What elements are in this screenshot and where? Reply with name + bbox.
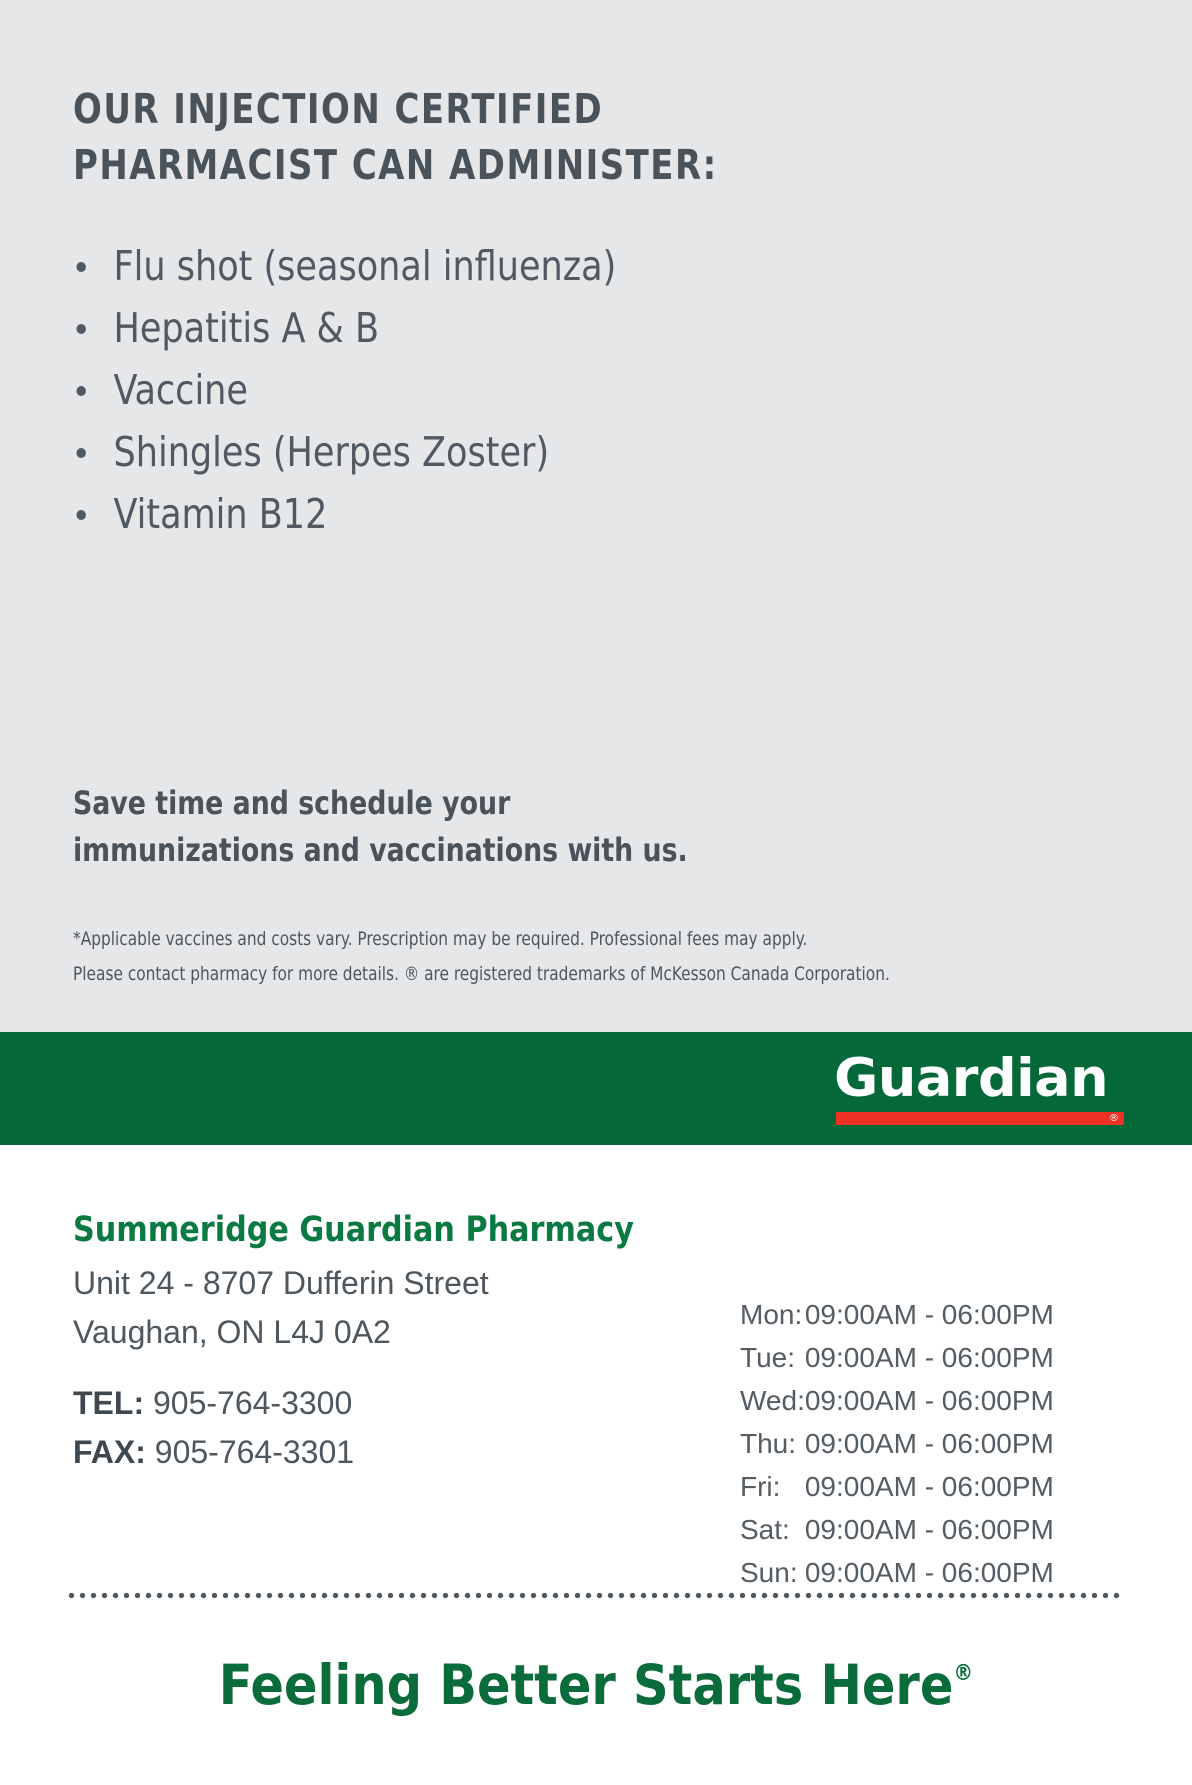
bullet-icon xyxy=(76,262,86,272)
registered-trademark-icon: ® xyxy=(1109,1112,1119,1125)
table-row: Wed: 09:00AM - 06:00PM xyxy=(740,1379,1054,1422)
brand-banner: Guardian ® xyxy=(0,1032,1192,1145)
hours-time: 09:00AM - 06:00PM xyxy=(805,1422,1054,1465)
fax-value: 905-764-3301 xyxy=(155,1434,354,1470)
logo-underline-bar xyxy=(836,1112,1124,1125)
disclaimer-line-2: Please contact pharmacy for more details… xyxy=(73,957,1027,992)
fax-row: FAX: 905-764-3301 xyxy=(73,1428,713,1477)
table-row: Tue: 09:00AM - 06:00PM xyxy=(740,1336,1054,1379)
services-panel: OUR INJECTION CERTIFIED PHARMACIST CAN A… xyxy=(0,0,1192,1032)
table-row: Mon: 09:00AM - 06:00PM xyxy=(740,1293,1054,1336)
promo-message: Save time and schedule your immunization… xyxy=(73,780,873,875)
registered-trademark-icon: ® xyxy=(953,1661,973,1686)
store-contact: TEL: 905-764-3300 FAX: 905-764-3301 xyxy=(73,1379,713,1477)
hours-time: 09:00AM - 06:00PM xyxy=(805,1508,1054,1551)
hours-day: Sun: xyxy=(740,1551,805,1594)
hours-day: Tue: xyxy=(740,1336,805,1379)
hours-day: Thu: xyxy=(740,1422,805,1465)
fax-label: FAX: xyxy=(73,1434,146,1470)
guardian-wordmark: Guardian xyxy=(834,1048,1132,1110)
hours-time: 09:00AM - 06:00PM xyxy=(805,1465,1054,1508)
hours-day: Mon: xyxy=(740,1293,805,1336)
pharmacy-flyer: OUR INJECTION CERTIFIED PHARMACIST CAN A… xyxy=(0,0,1192,1785)
store-hours-table: Mon: 09:00AM - 06:00PM Tue: 09:00AM - 06… xyxy=(740,1293,1054,1594)
table-row: Thu: 09:00AM - 06:00PM xyxy=(740,1422,1054,1465)
tagline-text: Feeling Better Starts Here xyxy=(219,1653,954,1717)
page-title-line-2: PHARMACIST CAN ADMINISTER: xyxy=(73,138,864,194)
telephone-value[interactable]: 905-764-3300 xyxy=(153,1385,352,1421)
page-title-line-1: OUR INJECTION CERTIFIED xyxy=(73,82,864,138)
hours-time: 09:00AM - 06:00PM xyxy=(805,1379,1054,1422)
table-row: Sun: 09:00AM - 06:00PM xyxy=(740,1551,1054,1594)
table-row: Fri: 09:00AM - 06:00PM xyxy=(740,1465,1054,1508)
service-label: Vitamin B12 xyxy=(114,490,328,538)
disclaimer-text: *Applicable vaccines and costs vary. Pre… xyxy=(73,922,1027,992)
service-label: Flu shot (seasonal influenza) xyxy=(114,242,617,290)
store-name: Summeridge Guardian Pharmacy xyxy=(73,1207,687,1253)
guardian-logo: Guardian ® xyxy=(834,1048,1126,1130)
address-line-1: Unit 24 - 8707 Dufferin Street xyxy=(73,1259,713,1308)
promo-line-2: immunizations and vaccinations with us. xyxy=(73,827,873,874)
telephone-row: TEL: 905-764-3300 xyxy=(73,1379,713,1428)
hours-day: Wed: xyxy=(740,1379,805,1422)
bullet-icon xyxy=(76,386,86,396)
promo-line-1: Save time and schedule your xyxy=(73,780,873,827)
store-address: Unit 24 - 8707 Dufferin Street Vaughan, … xyxy=(73,1259,713,1357)
hours-time: 09:00AM - 06:00PM xyxy=(805,1551,1054,1594)
disclaimer-line-1: *Applicable vaccines and costs vary. Pre… xyxy=(73,922,1027,957)
dotted-divider xyxy=(66,1592,1121,1599)
bullet-icon xyxy=(76,324,86,334)
list-item: Vitamin B12 xyxy=(66,483,921,545)
service-label: Vaccine xyxy=(114,366,248,414)
list-item: Hepatitis A & B xyxy=(66,297,921,359)
list-item: Flu shot (seasonal influenza) xyxy=(66,235,921,297)
list-item: Vaccine xyxy=(66,359,921,421)
list-item: Shingles (Herpes Zoster) xyxy=(66,421,921,483)
table-row: Sat: 09:00AM - 06:00PM xyxy=(740,1508,1054,1551)
hours-time: 09:00AM - 06:00PM xyxy=(805,1336,1054,1379)
telephone-label: TEL: xyxy=(73,1385,144,1421)
hours-day: Sat: xyxy=(740,1508,805,1551)
hours-time: 09:00AM - 06:00PM xyxy=(805,1293,1054,1336)
service-label: Shingles (Herpes Zoster) xyxy=(114,428,550,476)
page-title: OUR INJECTION CERTIFIED PHARMACIST CAN A… xyxy=(73,82,864,194)
service-list: Flu shot (seasonal influenza) Hepatitis … xyxy=(66,235,966,545)
address-line-2: Vaughan, ON L4J 0A2 xyxy=(73,1308,713,1357)
bullet-icon xyxy=(76,510,86,520)
bullet-icon xyxy=(76,448,86,458)
hours-day: Fri: xyxy=(740,1465,805,1508)
service-label: Hepatitis A & B xyxy=(114,304,380,352)
store-info: Summeridge Guardian Pharmacy Unit 24 - 8… xyxy=(73,1207,713,1477)
brand-tagline: Feeling Better Starts Here® xyxy=(0,1638,1192,1721)
